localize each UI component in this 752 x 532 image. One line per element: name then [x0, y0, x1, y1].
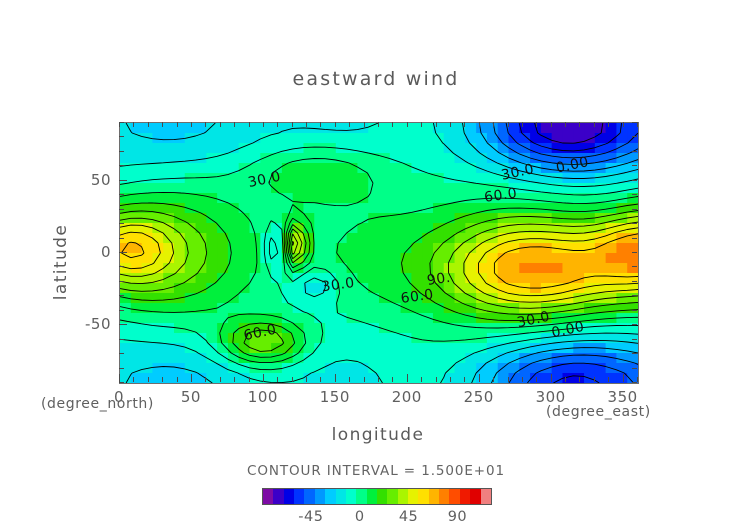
y-minor-tick	[632, 324, 637, 325]
x-major-tick	[551, 374, 552, 382]
colorbar-swatch-3	[294, 489, 304, 504]
y-tick-label: 0	[59, 243, 111, 261]
x-minor-tick	[220, 122, 221, 127]
colorbar-swatch-0	[263, 489, 273, 504]
y-minor-tick	[119, 310, 124, 311]
x-minor-tick	[608, 377, 609, 382]
colorbar-swatch-2	[284, 489, 294, 504]
x-minor-tick	[148, 377, 149, 382]
y-minor-tick	[632, 238, 637, 239]
x-minor-tick	[421, 122, 422, 127]
x-major-tick	[335, 374, 336, 382]
y-minor-tick	[632, 122, 637, 123]
x-minor-tick	[277, 122, 278, 127]
y-minor-tick	[119, 151, 124, 152]
y-minor-tick	[632, 295, 637, 296]
y-minor-tick	[632, 353, 637, 354]
colorbar-tick-label: 90	[448, 509, 467, 525]
y-major-tick	[119, 252, 127, 253]
x-minor-tick	[205, 122, 206, 127]
x-minor-tick	[162, 377, 163, 382]
colorbar-swatch-15	[418, 489, 428, 504]
x-minor-tick	[450, 377, 451, 382]
y-minor-tick	[119, 382, 124, 383]
x-major-tick	[407, 374, 408, 382]
x-tick-label: 300	[536, 388, 566, 406]
colorbar-swatch-14	[408, 489, 418, 504]
x-minor-tick	[522, 377, 523, 382]
x-minor-tick	[277, 377, 278, 382]
x-minor-tick	[436, 377, 437, 382]
colorbar-swatch-19	[460, 489, 470, 504]
y-minor-tick	[632, 266, 637, 267]
x-minor-tick	[220, 377, 221, 382]
y-minor-tick	[119, 238, 124, 239]
x-minor-tick	[133, 377, 134, 382]
x-minor-tick	[320, 377, 321, 382]
x-minor-tick	[608, 122, 609, 127]
x-minor-tick	[464, 122, 465, 127]
y-major-tick	[119, 180, 127, 181]
x-minor-tick	[637, 122, 638, 127]
y-minor-tick	[632, 209, 637, 210]
x-axis-title: longitude	[119, 425, 637, 445]
x-minor-tick	[320, 122, 321, 127]
colorbar-swatch-6	[325, 489, 335, 504]
colorbar-tick-label: 45	[399, 509, 418, 525]
x-minor-tick	[579, 377, 580, 382]
x-minor-tick	[378, 122, 379, 127]
x-minor-tick	[249, 122, 250, 127]
x-minor-tick	[594, 122, 595, 127]
contour-field: 30.030.00.0060.030.090.60.060.030.00.00	[120, 123, 638, 383]
colorbar-swatch-11	[377, 489, 387, 504]
y-minor-tick	[119, 295, 124, 296]
x-tick-label: 0	[114, 388, 124, 406]
x-minor-tick	[191, 122, 192, 127]
x-tick-label: 100	[248, 388, 278, 406]
y-minor-tick	[119, 266, 124, 267]
colorbar-swatch-4	[304, 489, 314, 504]
y-minor-tick	[632, 368, 637, 369]
x-minor-tick	[421, 377, 422, 382]
x-minor-tick	[177, 377, 178, 382]
x-minor-tick	[623, 122, 624, 127]
x-minor-tick	[162, 122, 163, 127]
x-minor-tick	[292, 377, 293, 382]
x-minor-tick	[493, 377, 494, 382]
y-tick-label: 50	[59, 171, 111, 189]
contour-interval-text: CONTOUR INTERVAL = 1.500E+01	[0, 463, 752, 479]
x-minor-tick	[508, 377, 509, 382]
x-minor-tick	[364, 377, 365, 382]
colorbar-swatch-9	[356, 489, 366, 504]
x-minor-tick	[436, 122, 437, 127]
x-major-tick	[479, 374, 480, 382]
y-minor-tick	[632, 136, 637, 137]
y-minor-tick	[632, 252, 637, 253]
x-minor-tick	[522, 122, 523, 127]
x-tick-label: 350	[608, 388, 638, 406]
x-minor-tick	[551, 122, 552, 127]
colorbar-swatch-21	[481, 489, 491, 504]
y-minor-tick	[119, 339, 124, 340]
y-minor-tick	[632, 194, 637, 195]
y-minor-tick	[119, 194, 124, 195]
colorbar-swatch-16	[429, 489, 439, 504]
contour-plot-frame: 30.030.00.0060.030.090.60.060.030.00.00	[119, 122, 639, 384]
y-axis-title: latitude	[51, 197, 71, 327]
x-minor-tick	[177, 122, 178, 127]
y-minor-tick	[632, 165, 637, 166]
x-tick-label: 200	[392, 388, 422, 406]
y-minor-tick	[119, 368, 124, 369]
x-minor-tick	[565, 122, 566, 127]
x-minor-tick	[364, 122, 365, 127]
x-minor-tick	[536, 122, 537, 127]
x-minor-tick	[148, 122, 149, 127]
x-minor-tick	[263, 122, 264, 127]
colorbar-tick-label: 0	[355, 509, 365, 525]
colorbar-swatch-8	[346, 489, 356, 504]
y-minor-tick	[632, 382, 637, 383]
colorbar-swatch-10	[367, 489, 377, 504]
colorbar-swatch-5	[315, 489, 325, 504]
x-minor-tick	[450, 122, 451, 127]
colorbar-swatch-17	[439, 489, 449, 504]
x-minor-tick	[392, 122, 393, 127]
y-major-tick	[119, 324, 127, 325]
x-minor-tick	[306, 377, 307, 382]
y-minor-tick	[119, 223, 124, 224]
x-minor-tick	[536, 377, 537, 382]
x-tick-label: 250	[464, 388, 494, 406]
y-minor-tick	[632, 310, 637, 311]
colorbar-swatch-13	[398, 489, 408, 504]
x-minor-tick	[579, 122, 580, 127]
y-minor-tick	[119, 209, 124, 210]
colorbar-tick-label: -45	[298, 509, 323, 525]
y-minor-tick	[632, 151, 637, 152]
x-minor-tick	[565, 377, 566, 382]
x-minor-tick	[594, 377, 595, 382]
x-minor-tick	[133, 122, 134, 127]
x-minor-tick	[637, 377, 638, 382]
y-minor-tick	[632, 339, 637, 340]
colorbar-swatch-20	[470, 489, 480, 504]
x-axis-units: (degree_east)	[546, 404, 651, 420]
y-axis-units: (degree_north)	[41, 396, 154, 412]
y-minor-tick	[119, 281, 124, 282]
x-minor-tick	[392, 377, 393, 382]
x-minor-tick	[249, 377, 250, 382]
x-minor-tick	[479, 122, 480, 127]
y-tick-label: -50	[59, 315, 111, 333]
x-minor-tick	[508, 122, 509, 127]
x-major-tick	[263, 374, 264, 382]
y-minor-tick	[632, 180, 637, 181]
x-tick-label: 50	[181, 388, 201, 406]
x-minor-tick	[464, 377, 465, 382]
colorbar-swatch-18	[449, 489, 459, 504]
y-minor-tick	[119, 122, 124, 123]
x-minor-tick	[407, 122, 408, 127]
colorbar-swatch-12	[387, 489, 397, 504]
x-minor-tick	[292, 122, 293, 127]
x-minor-tick	[234, 377, 235, 382]
x-major-tick	[623, 374, 624, 382]
x-minor-tick	[349, 122, 350, 127]
x-tick-label: 150	[320, 388, 350, 406]
colorbar	[262, 488, 492, 505]
x-minor-tick	[205, 377, 206, 382]
x-minor-tick	[306, 122, 307, 127]
y-minor-tick	[119, 136, 124, 137]
x-minor-tick	[335, 122, 336, 127]
y-minor-tick	[119, 353, 124, 354]
x-minor-tick	[378, 377, 379, 382]
y-minor-tick	[632, 281, 637, 282]
x-major-tick	[119, 374, 120, 382]
x-minor-tick	[234, 122, 235, 127]
page-title: eastward wind	[0, 68, 752, 90]
colorbar-swatch-1	[273, 489, 283, 504]
x-minor-tick	[493, 122, 494, 127]
x-minor-tick	[349, 377, 350, 382]
colorbar-swatch-7	[336, 489, 346, 504]
y-minor-tick	[119, 165, 124, 166]
y-minor-tick	[632, 223, 637, 224]
x-major-tick	[191, 374, 192, 382]
